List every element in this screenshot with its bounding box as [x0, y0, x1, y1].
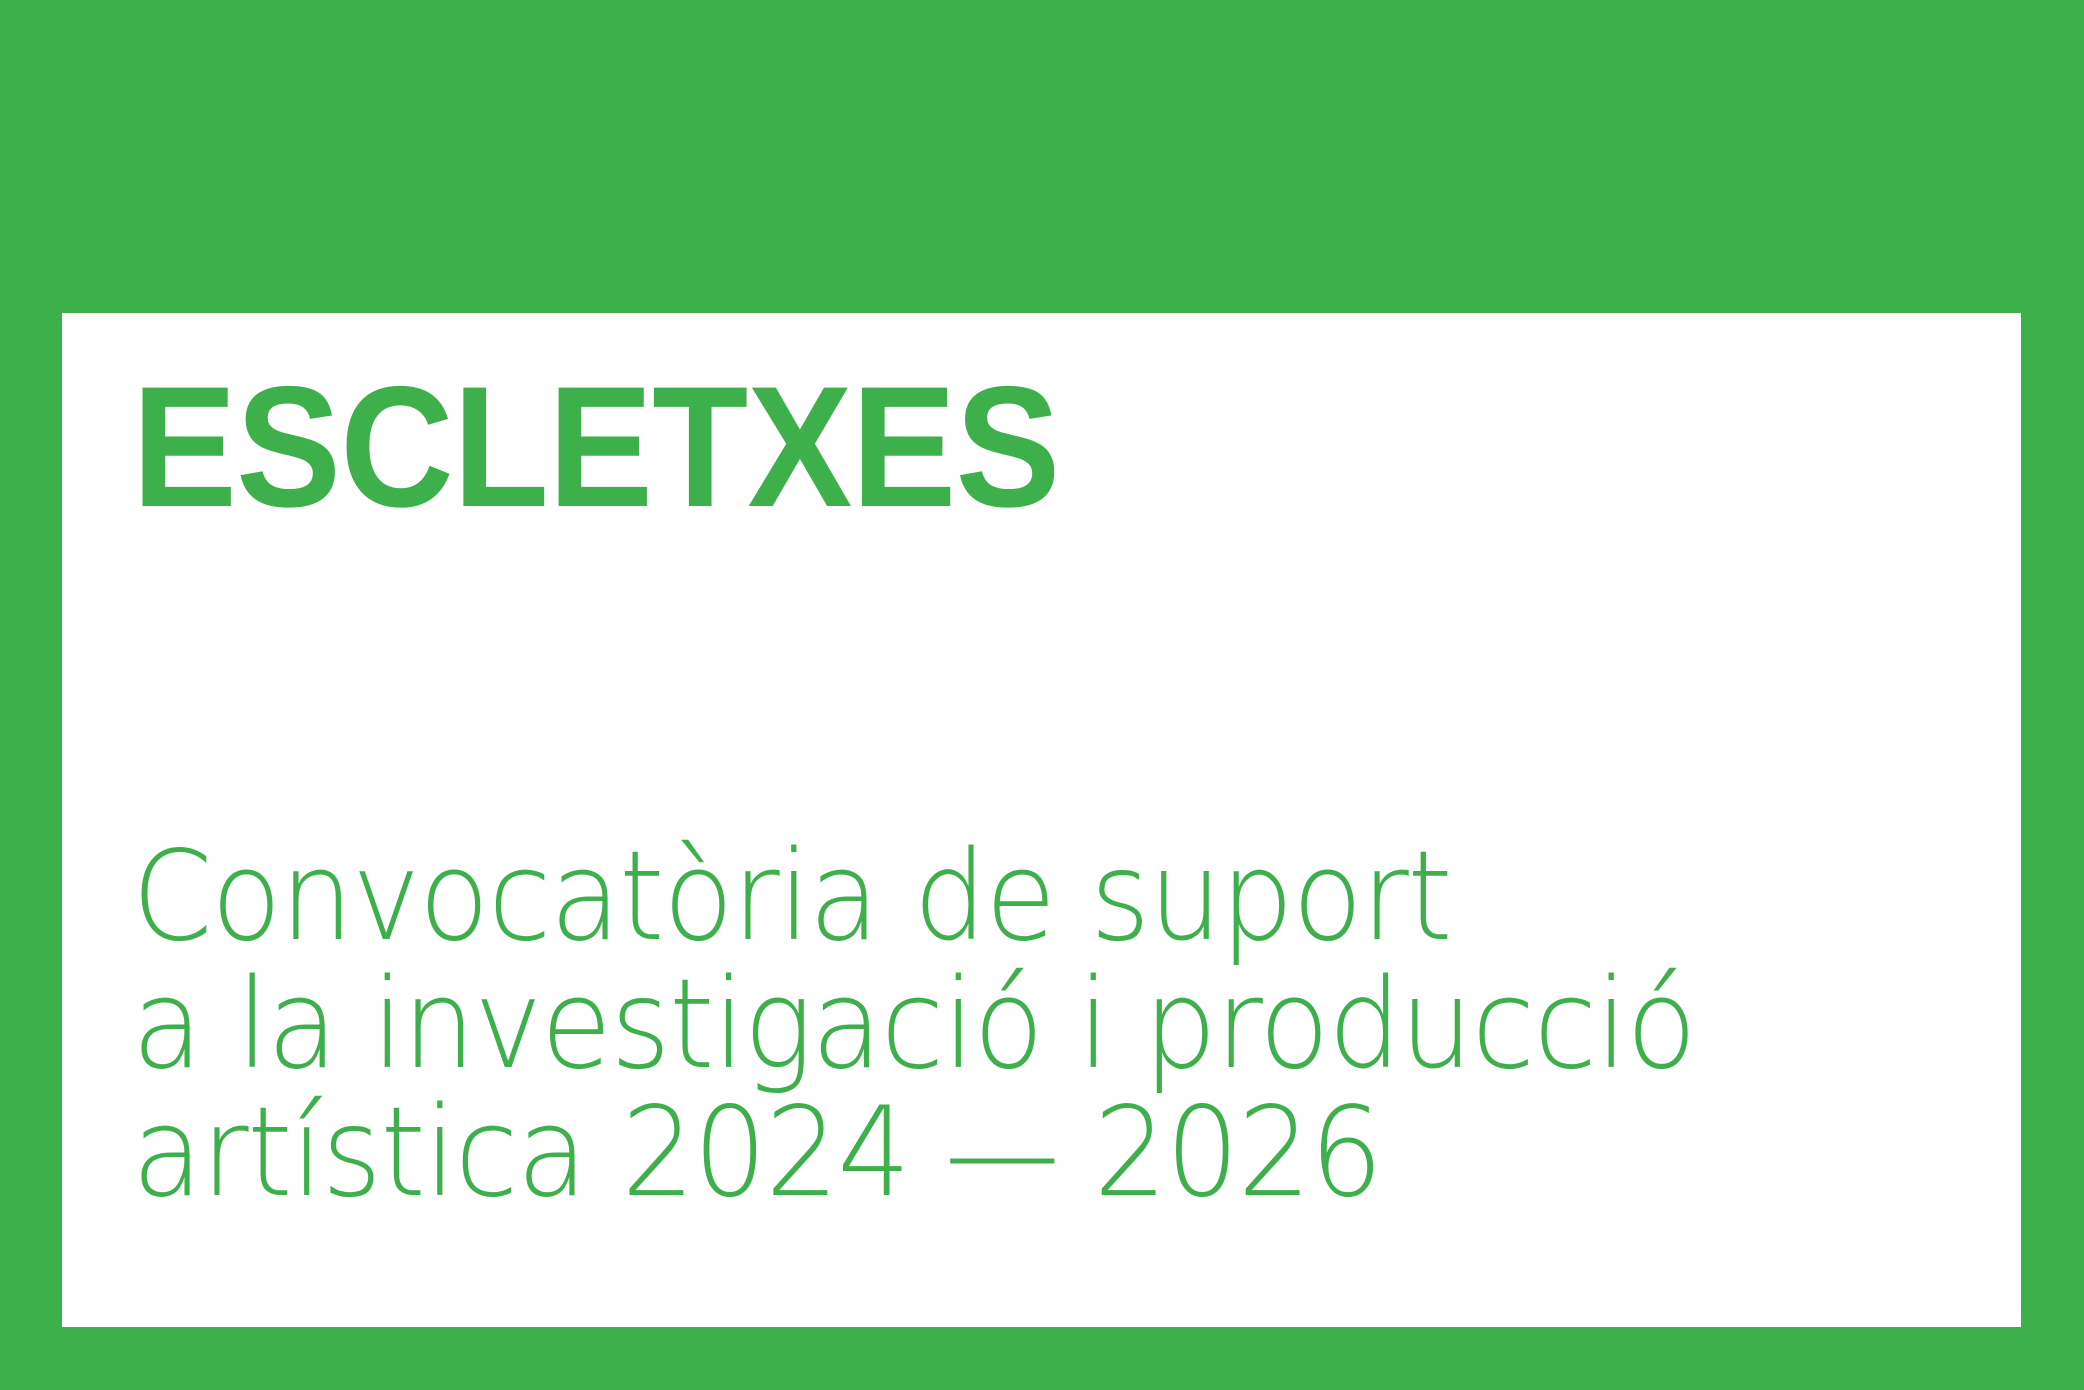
subtitle-line-3: artística 2024 — 2026 [132, 1089, 1834, 1217]
poster-canvas: ESCLETXES Convocatòria de suport a la in… [0, 0, 2084, 1390]
subtitle-line-1: Convocatòria de suport [132, 833, 1834, 961]
subtitle-line-2: a la investigació i producció [132, 961, 1834, 1089]
poster-subtitle: Convocatòria de suport a la investigació… [132, 833, 1834, 1217]
page-title: ESCLETXES [132, 365, 1797, 530]
poster-white-card: ESCLETXES Convocatòria de suport a la in… [62, 313, 2021, 1327]
subtitle-block: Convocatòria de suport a la investigació… [132, 833, 1962, 1217]
title-block: ESCLETXES [132, 365, 1952, 530]
